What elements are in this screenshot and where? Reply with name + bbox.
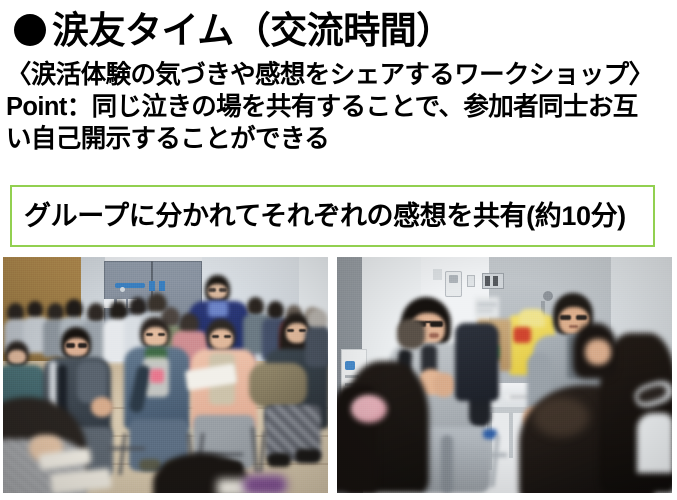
photo-large-group-circle-canvas xyxy=(3,257,328,493)
photo-small-group-discussion xyxy=(337,257,672,493)
callout-text: グループに分かれてそれぞれの感想を共有(約10分) xyxy=(12,203,626,230)
photo-row xyxy=(0,257,677,495)
bullet-dot-icon xyxy=(14,14,46,46)
page-title: 涙友タイム（交流時間） xyxy=(14,6,453,54)
body-line-point-2: い自己開示することができる xyxy=(6,123,674,155)
slide-canvas: 涙友タイム（交流時間） 〈涙活体験の気づきや感想をシェアするワークショップ〉 P… xyxy=(0,0,677,500)
body-line-point-1: Point：同じ泣きの場を共有することで、参加者同士お互 xyxy=(6,91,674,123)
callout-box: グループに分かれてそれぞれの感想を共有(約10分) xyxy=(10,185,655,247)
body-text-block: 〈涙活体験の気づきや感想をシェアするワークショップ〉 Point：同じ泣きの場を… xyxy=(6,59,674,155)
photo-small-group-discussion-canvas xyxy=(337,257,672,493)
body-line-subtitle: 〈涙活体験の気づきや感想をシェアするワークショップ〉 xyxy=(6,59,674,91)
photo-large-group-circle xyxy=(3,257,328,493)
page-title-text: 涙友タイム（交流時間） xyxy=(52,12,453,49)
